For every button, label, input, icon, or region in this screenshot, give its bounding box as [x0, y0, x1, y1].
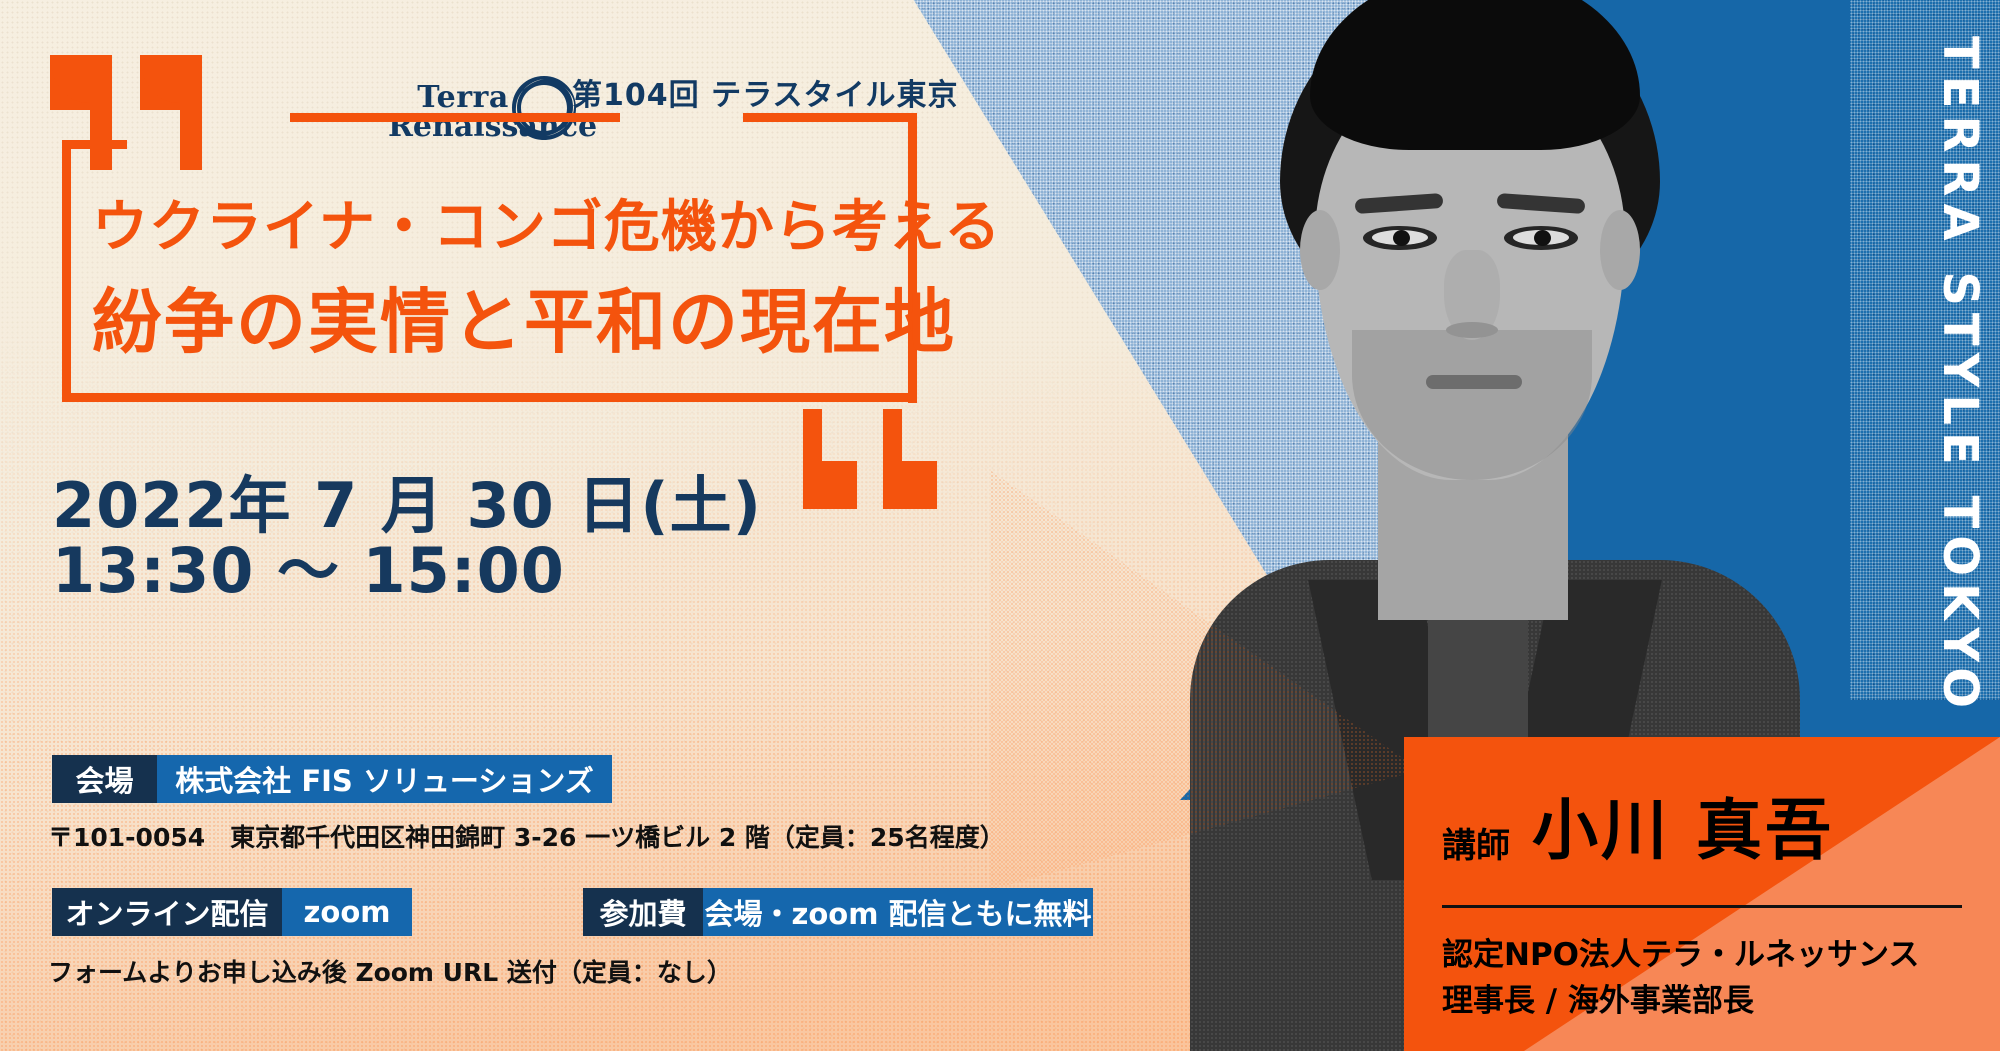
event-time: 13:30 〜 15:00 — [52, 520, 565, 610]
venue-address: 〒101-0054 東京都千代田区神田錦町 3-26 一ツ橋ビル 2 階（定員：… — [48, 818, 1005, 854]
title-frame-top-edge — [62, 140, 127, 149]
speaker-name: 小川 真吾 — [1532, 777, 1834, 873]
circular-swirl-icon — [508, 72, 580, 144]
speaker-keyword: 講師 — [1442, 818, 1510, 867]
online-label: オンライン配信 — [52, 888, 282, 936]
page-title-line2: 紛争の実情と平和の現在地 — [92, 266, 902, 367]
fee-label: 参加費 — [583, 888, 703, 936]
online-badge-row: オンライン配信 zoom — [52, 888, 412, 936]
online-value: zoom — [282, 888, 412, 936]
fee-value: 会場・zoom 配信ともに無料 — [703, 888, 1093, 936]
series-label: 第104回 テラスタイル東京 — [572, 70, 958, 114]
speaker-divider — [1442, 905, 1962, 908]
speaker-job-title: 理事長 / 海外事業部長 — [1442, 975, 1754, 1020]
venue-badge-row: 会場 株式会社 FIS ソリューションズ — [52, 755, 612, 803]
speaker-organization: 認定NPO法人テラ・ルネッサンス — [1442, 929, 1919, 974]
venue-label: 会場 — [52, 755, 157, 803]
close-quote-icon — [795, 385, 965, 510]
title-rule-left — [290, 113, 620, 122]
event-poster: Terra Renaissance 第104回 テラスタイル東京 ウクライナ・コ… — [0, 0, 2000, 1051]
speaker-name-row: 講師 小川 真吾 — [1442, 777, 1834, 873]
venue-value: 株式会社 FIS ソリューションズ — [157, 755, 612, 803]
page-title-line1: ウクライナ・コンゴ危機から考える — [92, 182, 902, 263]
speaker-panel: 講師 小川 真吾 認定NPO法人テラ・ルネッサンス 理事長 / 海外事業部長 — [1404, 737, 2000, 1051]
fee-badge-row: 参加費 会場・zoom 配信ともに無料 — [583, 888, 1093, 936]
title-rule-right — [743, 113, 917, 122]
vertical-brand-label: TERRA STYLE TOKYO — [1928, 36, 1992, 636]
vertical-brand-text: TERRA STYLE TOKYO — [1932, 36, 1988, 715]
application-note: フォームよりお申し込み後 Zoom URL 送付（定員：なし） — [48, 953, 732, 989]
